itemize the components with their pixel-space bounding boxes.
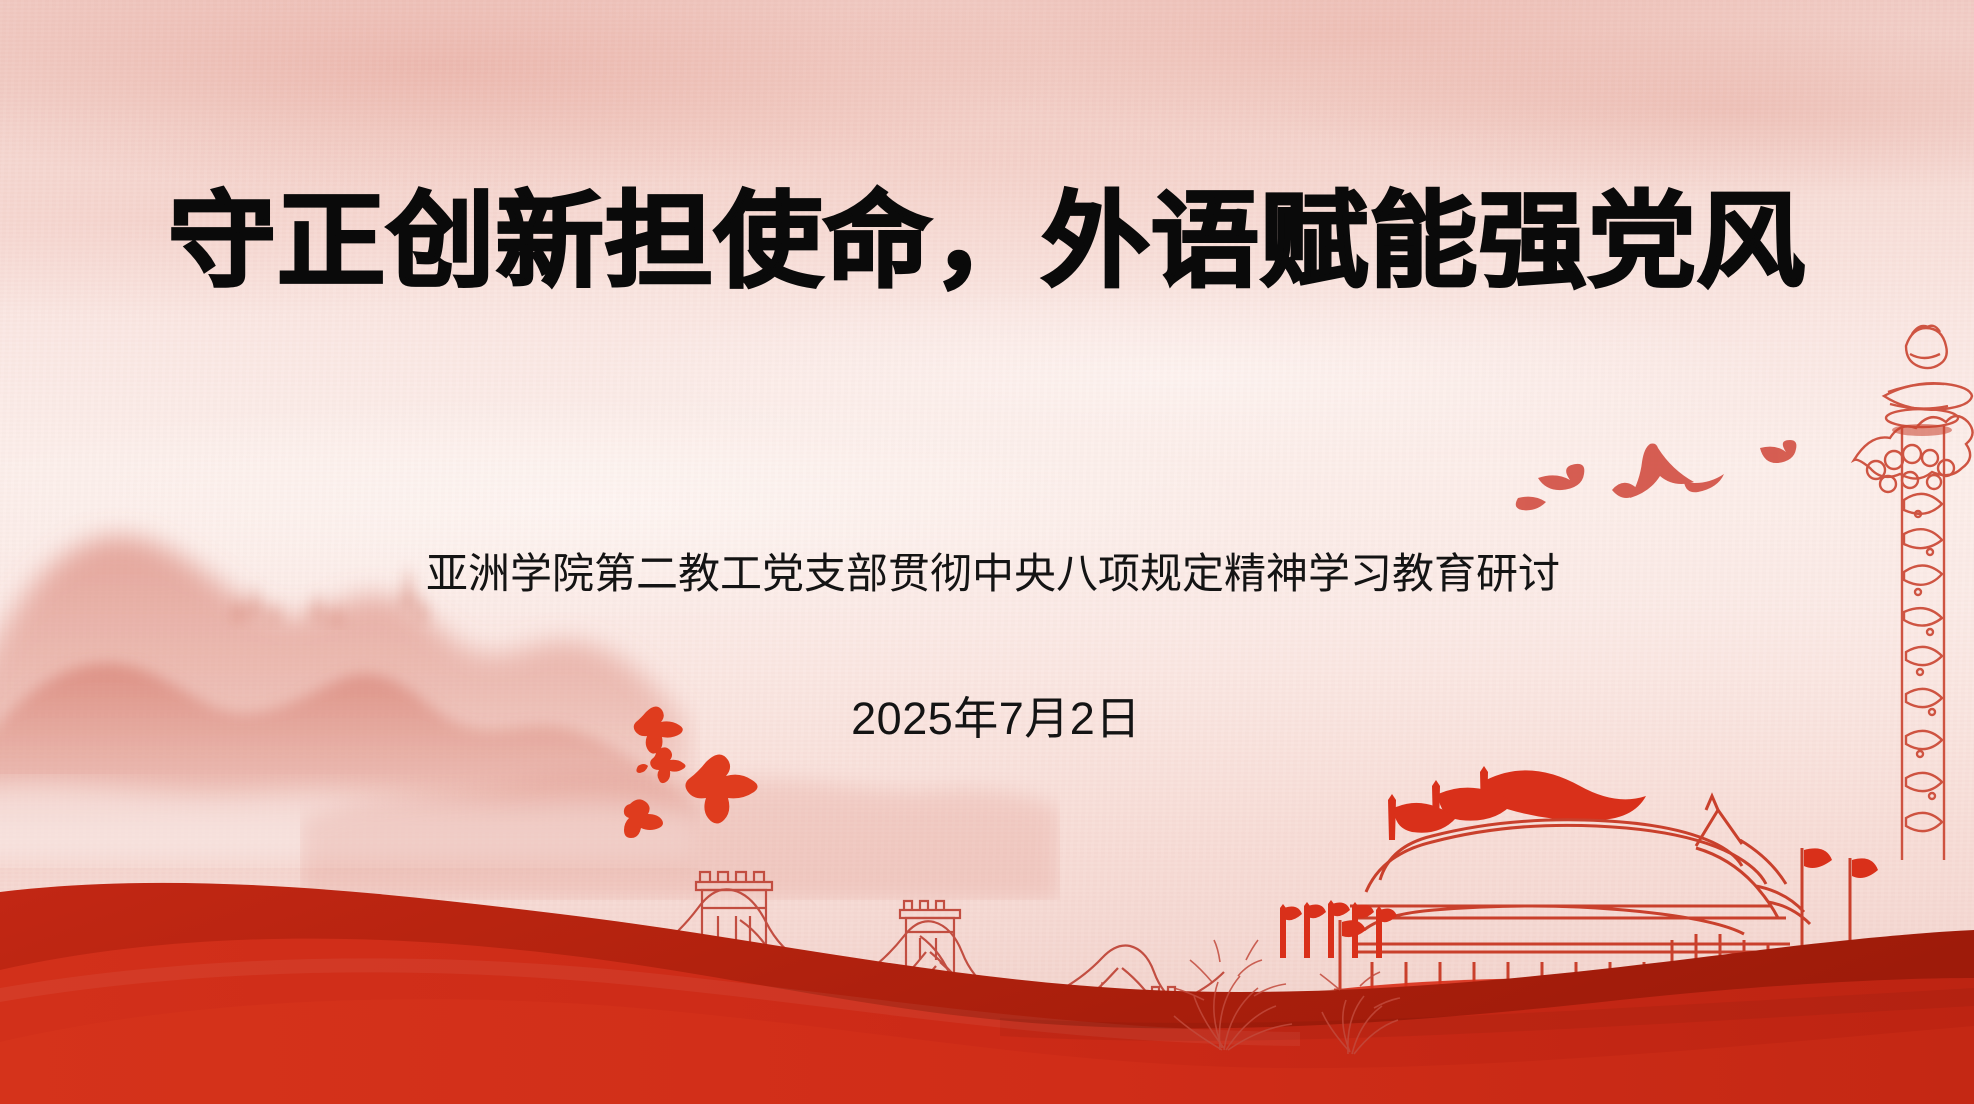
date-text: 2025年7月2日 xyxy=(0,692,1974,746)
grass-tufts xyxy=(1160,930,1440,1060)
red-wave-bands xyxy=(0,774,1974,1104)
subtitle-text: 亚洲学院第二教工党支部贯彻中央八项规定精神学习教育研讨 xyxy=(0,548,1974,601)
title-slide: 守正创新担使命，外语赋能强党风 亚洲学院第二教工党支部贯彻中央八项规定精神学习教… xyxy=(0,0,1974,1104)
page-title: 守正创新担使命，外语赋能强党风 xyxy=(0,186,1974,298)
